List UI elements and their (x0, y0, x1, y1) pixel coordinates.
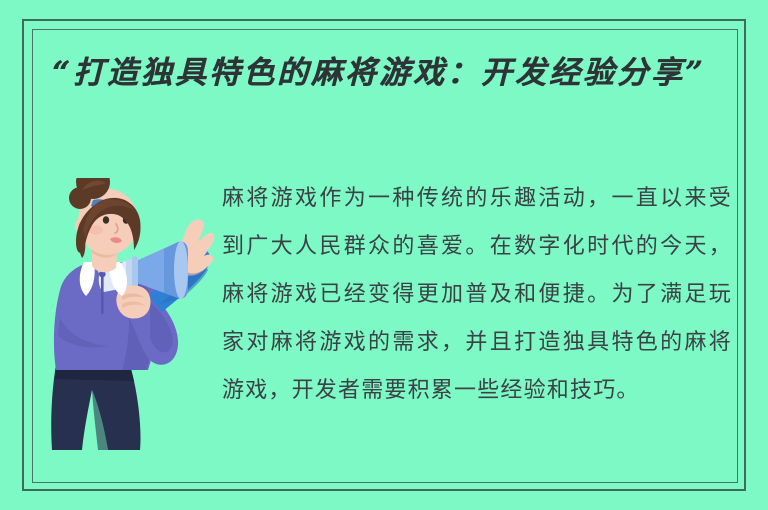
woman-with-megaphone-illustration: 卡通女性举着扩音喇叭 (38, 178, 216, 478)
poster-canvas: “打造独具特色的麻将游戏：开发经验分享” 卡通女性举着扩音喇叭 (0, 0, 768, 510)
page-title: “打造独具特色的麻将游戏：开发经验分享” (52, 50, 742, 96)
body-paragraph: 麻将游戏作为一种传统的乐趣活动，一直以来受到广大人民群众的喜爱。在数字化时代的今… (222, 175, 732, 415)
